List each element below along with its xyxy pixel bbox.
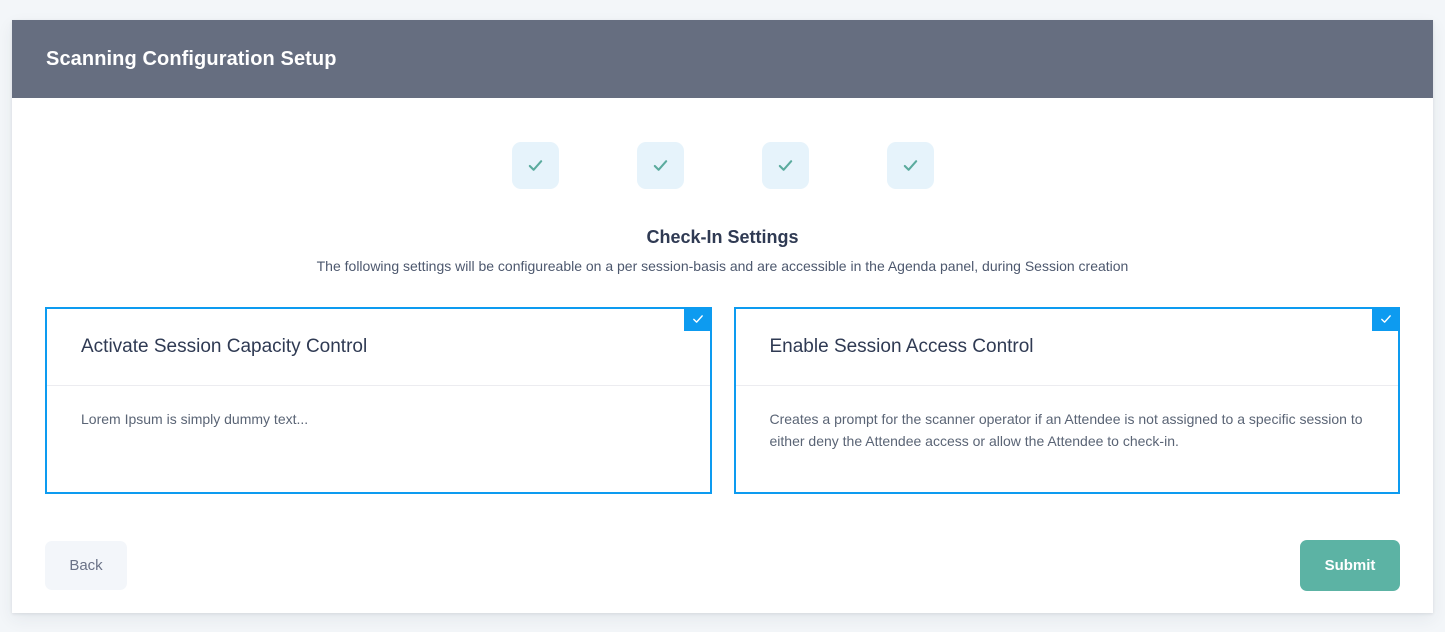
stepper-step-1[interactable] (512, 142, 559, 189)
stepper-step-4[interactable] (887, 142, 934, 189)
check-icon (526, 156, 545, 175)
option-card-body: Creates a prompt for the scanner operato… (736, 386, 1399, 452)
option-card-description: Creates a prompt for the scanner operato… (770, 408, 1365, 452)
wizard-header: Scanning Configuration Setup (12, 20, 1433, 98)
selected-badge[interactable] (1372, 307, 1400, 331)
wizard-body: Check-In Settings The following settings… (12, 98, 1433, 613)
option-card-title: Enable Session Access Control (770, 336, 1034, 358)
wizard-panel: Scanning Configuration Setup (12, 20, 1433, 613)
check-icon (651, 156, 670, 175)
option-card-session-capacity-control[interactable]: Activate Session Capacity Control Lorem … (45, 307, 712, 494)
stepper-step-3[interactable] (762, 142, 809, 189)
option-card-header: Enable Session Access Control (736, 309, 1399, 386)
option-cards-row: Activate Session Capacity Control Lorem … (12, 307, 1433, 494)
check-icon (1379, 312, 1393, 326)
option-card-body: Lorem Ipsum is simply dummy text... (47, 386, 710, 430)
section-subheading: The following settings will be configure… (12, 258, 1433, 274)
option-card-description: Lorem Ipsum is simply dummy text... (81, 408, 676, 430)
stepper-step-2[interactable] (637, 142, 684, 189)
stepper (12, 98, 1433, 189)
check-icon (901, 156, 920, 175)
section-heading: Check-In Settings (12, 227, 1433, 248)
check-icon (776, 156, 795, 175)
check-icon (691, 312, 705, 326)
wizard-footer: Back Submit (12, 517, 1433, 613)
selected-badge[interactable] (684, 307, 712, 331)
page-title: Scanning Configuration Setup (46, 48, 337, 71)
submit-button[interactable]: Submit (1300, 540, 1400, 591)
option-card-title: Activate Session Capacity Control (81, 336, 367, 358)
back-button[interactable]: Back (45, 541, 127, 590)
option-card-session-access-control[interactable]: Enable Session Access Control Creates a … (734, 307, 1401, 494)
option-card-header: Activate Session Capacity Control (47, 309, 710, 386)
